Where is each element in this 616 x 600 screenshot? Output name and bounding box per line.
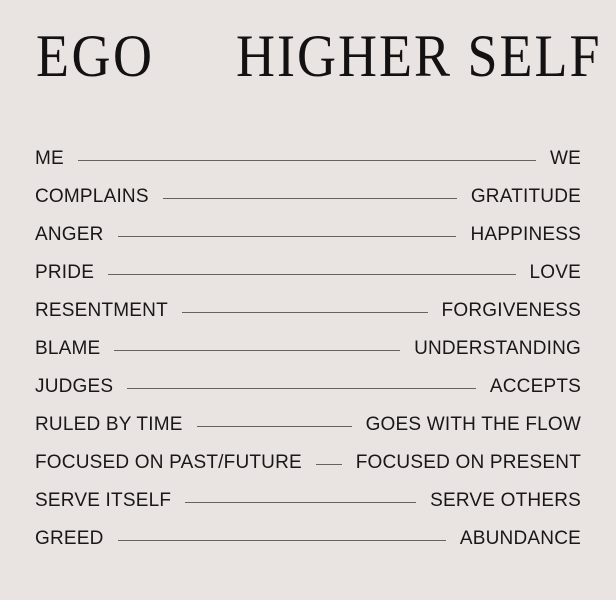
- ego-label: BLAME: [35, 338, 100, 360]
- comparison-row: SERVE ITSELFSERVE OTHERS: [35, 482, 581, 520]
- ego-label: GREED: [35, 528, 104, 550]
- comparison-row: MEWE: [35, 140, 581, 178]
- ego-label: SERVE ITSELF: [35, 490, 171, 512]
- comparison-row: COMPLAINSGRATITUDE: [35, 178, 581, 216]
- comparison-row: RESENTMENTFORGIVENESS: [35, 292, 581, 330]
- connector-line: [316, 464, 342, 465]
- higher-self-label: GRATITUDE: [471, 186, 581, 208]
- connector-line: [197, 426, 352, 427]
- comparison-row: GREEDABUNDANCE: [35, 520, 581, 558]
- ego-label: JUDGES: [35, 376, 113, 398]
- higher-self-label: ACCEPTS: [490, 376, 581, 398]
- ego-vs-higher-self-poster: EGO HIGHER SELF MEWECOMPLAINSGRATITUDEAN…: [0, 0, 616, 600]
- comparison-row: PRIDELOVE: [35, 254, 581, 292]
- ego-label: ANGER: [35, 224, 104, 246]
- higher-self-label: LOVE: [530, 262, 582, 284]
- comparison-row: FOCUSED ON PAST/FUTUREFOCUSED ON PRESENT: [35, 444, 581, 482]
- ego-label: RESENTMENT: [35, 300, 168, 322]
- connector-line: [118, 540, 446, 541]
- comparison-row: BLAMEUNDERSTANDING: [35, 330, 581, 368]
- comparison-row: RULED BY TIMEGOES WITH THE FLOW: [35, 406, 581, 444]
- higher-self-label: FOCUSED ON PRESENT: [356, 452, 581, 474]
- connector-line: [163, 198, 457, 199]
- comparison-row: JUDGESACCEPTS: [35, 368, 581, 406]
- higher-self-label: FORGIVENESS: [442, 300, 581, 322]
- connector-line: [118, 236, 457, 237]
- connector-line: [78, 160, 536, 161]
- connector-line: [182, 312, 428, 313]
- higher-self-label: GOES WITH THE FLOW: [366, 414, 581, 436]
- higher-self-label: ABUNDANCE: [460, 528, 581, 550]
- higher-self-label: WE: [550, 148, 581, 170]
- higher-self-label: SERVE OTHERS: [430, 490, 581, 512]
- higher-self-label: UNDERSTANDING: [414, 338, 581, 360]
- connector-line: [108, 274, 515, 275]
- comparison-rows: MEWECOMPLAINSGRATITUDEANGERHAPPINESSPRID…: [35, 140, 581, 558]
- comparison-row: ANGERHAPPINESS: [35, 216, 581, 254]
- connector-line: [127, 388, 476, 389]
- heading-ego: EGO: [36, 26, 154, 86]
- ego-label: RULED BY TIME: [35, 414, 183, 436]
- ego-label: COMPLAINS: [35, 186, 149, 208]
- ego-label: ME: [35, 148, 64, 170]
- higher-self-label: HAPPINESS: [470, 224, 581, 246]
- connector-line: [185, 502, 416, 503]
- headings-row: EGO HIGHER SELF: [0, 20, 616, 100]
- heading-higher-self: HIGHER SELF: [236, 26, 602, 86]
- ego-label: FOCUSED ON PAST/FUTURE: [35, 452, 302, 474]
- ego-label: PRIDE: [35, 262, 94, 284]
- connector-line: [114, 350, 400, 351]
